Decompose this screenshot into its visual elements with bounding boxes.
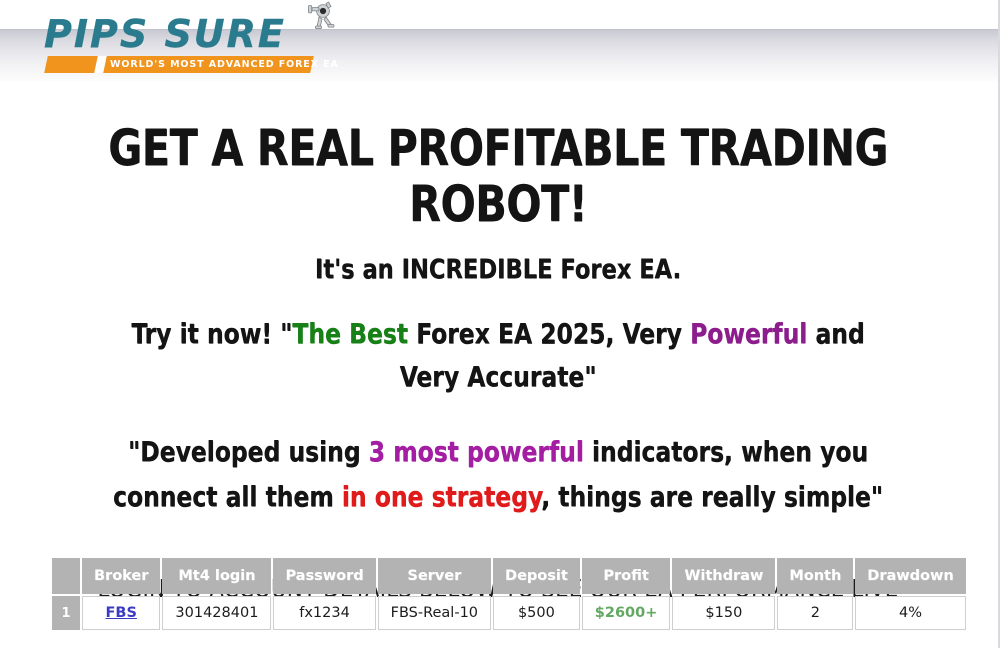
cell-deposit: $500 — [493, 596, 580, 630]
table-header-server: Server — [378, 558, 491, 594]
cell-month: 2 — [777, 596, 853, 630]
table-header-row: Broker Mt4 login Password Server Deposit… — [52, 558, 966, 594]
table-header-rownum — [52, 558, 80, 594]
logo-wordmark: PIPS SURE — [44, 14, 286, 54]
cell-profit: $2600+ — [582, 596, 671, 630]
table-header-withdraw: Withdraw — [672, 558, 775, 594]
cell-password: fx1234 — [273, 596, 375, 630]
robot-icon — [296, 0, 342, 34]
cell-broker: FBS — [82, 596, 160, 630]
hero-line4-highlight-indicators: 3 most powerful — [369, 435, 584, 468]
cell-drawdown: 4% — [855, 596, 965, 630]
hero-line4-part1: "Developed using — [128, 435, 369, 468]
hero-line4-part3: , things are really simple" — [541, 480, 883, 513]
hero-tagline-line: Try it now! "The Best Forex EA 2025, Ver… — [98, 286, 898, 398]
table-header-mt4-login: Mt4 login — [162, 558, 271, 594]
cell-withdraw: $150 — [672, 596, 775, 630]
hero-content: GET A REAL PROFITABLE TRADING ROBOT! It'… — [0, 88, 996, 603]
hero-line4-highlight-strategy: in one strategy — [342, 480, 541, 513]
hero-line3-highlight-the-best: The Best — [292, 317, 408, 350]
table-header-password: Password — [273, 558, 375, 594]
account-details-table: Broker Mt4 login Password Server Deposit… — [50, 556, 968, 632]
hero-line3-highlight-powerful: Powerful — [690, 317, 807, 350]
site-logo[interactable]: PIPS SURE WORLD'S MOST ADVANCED FOREX EA — [44, 14, 324, 76]
table-header-profit: Profit — [582, 558, 671, 594]
landing-page: PIPS SURE WORLD'S MOST ADVANCED FOREX EA — [0, 0, 1000, 648]
cell-server: FBS-Real-10 — [378, 596, 491, 630]
account-details-table-wrapper: Broker Mt4 login Password Server Deposit… — [50, 556, 968, 632]
hero-line3-part2: Forex EA 2025, Very — [408, 317, 690, 350]
cell-row-number: 1 — [52, 596, 80, 630]
table-header-drawdown: Drawdown — [855, 558, 965, 594]
hero-line3-part1: Try it now! " — [131, 317, 292, 350]
page-title: GET A REAL PROFITABLE TRADING ROBOT! — [40, 88, 956, 232]
table-row: 1 FBS 301428401 fx1234 FBS-Real-10 $500 … — [52, 596, 966, 630]
logo-tagline: WORLD'S MOST ADVANCED FOREX EA — [110, 58, 339, 71]
site-header: PIPS SURE WORLD'S MOST ADVANCED FOREX EA — [0, 0, 1000, 88]
table-header-month: Month — [777, 558, 853, 594]
hero-description-line: "Developed using 3 most powerful indicat… — [112, 398, 884, 519]
table-header-broker: Broker — [82, 558, 160, 594]
hero-subheadline: It's an INCREDIBLE Forex EA. — [35, 232, 961, 286]
cell-mt4-login: 301428401 — [162, 596, 271, 630]
profit-value: $2600+ — [595, 605, 658, 621]
broker-link[interactable]: FBS — [106, 605, 137, 621]
table-header-deposit: Deposit — [493, 558, 580, 594]
